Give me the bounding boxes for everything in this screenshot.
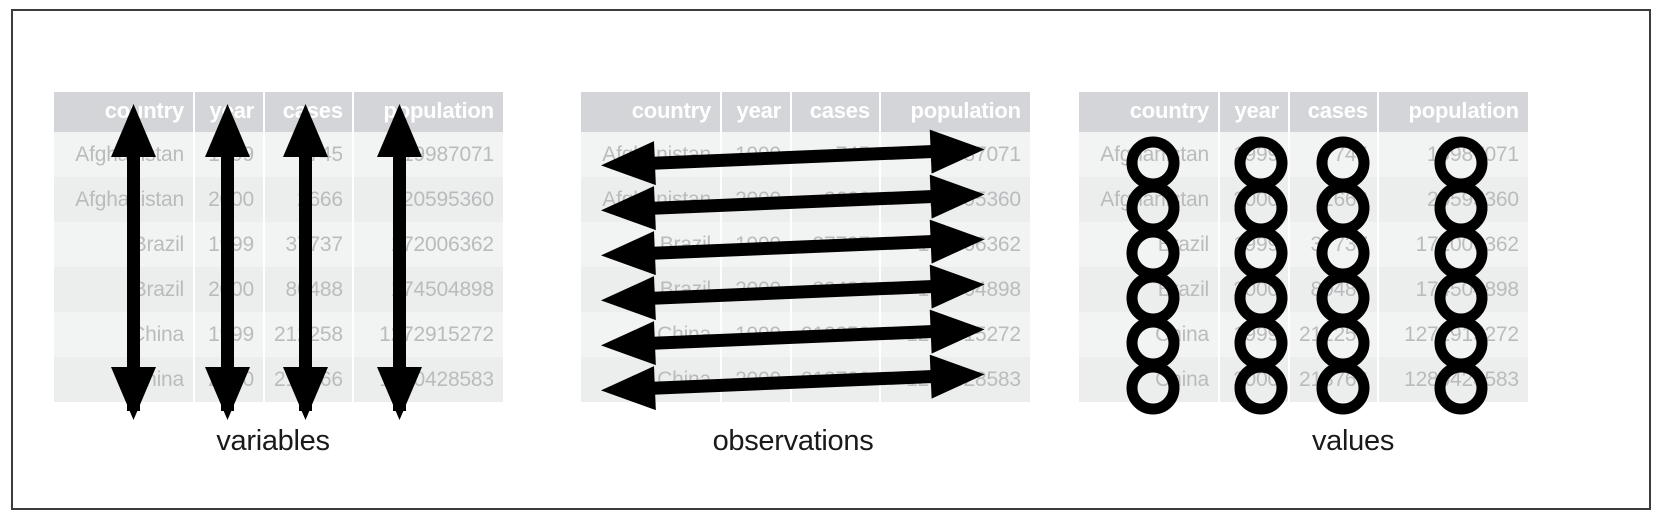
cell-population: 172006362 [1378,222,1528,267]
table-row: China 2000 213766 1280428583 [581,357,1030,402]
cell-cases: 2666 [1289,177,1378,222]
cell-year: 2000 [1219,267,1289,312]
cell-population: 1272915272 [1378,312,1528,357]
table-row: Afghanistan 1999 745 19987071 [581,132,1030,177]
column-header-population: population [1378,92,1528,132]
cell-cases: 212258 [791,312,880,357]
table-row: Afghanistan 2000 2666 20595360 [1079,177,1528,222]
cell-year: 1999 [721,222,791,267]
cell-country: China [54,357,194,402]
cell-year: 2000 [1219,357,1289,402]
cell-population: 172006362 [880,222,1030,267]
cell-year: 1999 [721,312,791,357]
panel-values: country year cases population Afghanista… [1053,11,1653,512]
table-header-row: country year cases population [1079,92,1528,132]
cell-year: 1999 [721,132,791,177]
table-row: China 2000 213766 1280428583 [1079,357,1528,402]
cell-cases: 80488 [1289,267,1378,312]
table-row: China 1999 212258 1272915272 [1079,312,1528,357]
cell-year: 2000 [721,357,791,402]
table-row: Brazil 2000 80488 174504898 [581,267,1030,312]
cell-year: 2000 [721,177,791,222]
cell-population: 1280428583 [880,357,1030,402]
figure-frame: country year cases population Afghanista… [11,9,1651,510]
cell-year: 2000 [721,267,791,312]
cell-population: 174504898 [353,267,503,312]
cell-population: 1280428583 [1378,357,1528,402]
column-header-year: year [1219,92,1289,132]
cell-year: 1999 [194,312,264,357]
table-row: Brazil 1999 37737 172006362 [54,222,503,267]
variables-table: country year cases population Afghanista… [54,92,503,402]
cell-population: 19987071 [880,132,1030,177]
cell-cases: 2666 [264,177,353,222]
column-header-cases: cases [264,92,353,132]
cell-country: Brazil [54,267,194,312]
column-header-year: year [194,92,264,132]
cell-country: China [581,312,721,357]
cell-country: Afghanistan [581,132,721,177]
column-header-population: population [880,92,1030,132]
table-row: China 1999 212258 1272915272 [581,312,1030,357]
panel-observations: country year cases population Afghanista… [533,11,1053,512]
table-row: China 2000 213766 1280428583 [54,357,503,402]
column-header-country: country [1079,92,1219,132]
observations-table: country year cases population Afghanista… [581,92,1030,402]
cell-year: 2000 [194,177,264,222]
cell-cases: 212258 [1289,312,1378,357]
cell-country: Brazil [581,222,721,267]
cell-country: China [1079,357,1219,402]
cell-cases: 37737 [264,222,353,267]
table-row: Brazil 1999 37737 172006362 [1079,222,1528,267]
column-header-cases: cases [791,92,880,132]
table-row: Brazil 2000 80488 174504898 [1079,267,1528,312]
cell-country: Brazil [1079,222,1219,267]
table-header-row: country year cases population [581,92,1030,132]
cell-population: 20595360 [1378,177,1528,222]
cell-country: Brazil [581,267,721,312]
panel-label-observations: observations [533,425,1053,458]
values-table: country year cases population Afghanista… [1079,92,1528,402]
cell-population: 20595360 [880,177,1030,222]
cell-cases: 80488 [264,267,353,312]
cell-country: Afghanistan [581,177,721,222]
table-row: China 1999 212258 1272915272 [54,312,503,357]
cell-year: 2000 [194,267,264,312]
cell-country: Afghanistan [1079,132,1219,177]
cell-population: 19987071 [1378,132,1528,177]
cell-cases: 213766 [264,357,353,402]
panel-label-values: values [1053,425,1653,458]
column-header-year: year [721,92,791,132]
cell-cases: 213766 [791,357,880,402]
cell-cases: 212258 [264,312,353,357]
observations-table-wrap: country year cases population Afghanista… [581,92,1030,402]
cell-population: 1272915272 [880,312,1030,357]
column-header-country: country [54,92,194,132]
cell-population: 172006362 [353,222,503,267]
values-table-wrap: country year cases population Afghanista… [1079,92,1528,402]
cell-country: Afghanistan [54,177,194,222]
cell-year: 1999 [1219,222,1289,267]
cell-population: 1272915272 [353,312,503,357]
panel-label-variables: variables [13,425,533,458]
cell-year: 1999 [1219,132,1289,177]
table-row: Afghanistan 2000 2666 20595360 [581,177,1030,222]
cell-country: Afghanistan [54,132,194,177]
column-header-population: population [353,92,503,132]
cell-population: 174504898 [1378,267,1528,312]
table-row: Afghanistan 1999 745 19987071 [1079,132,1528,177]
column-header-country: country [581,92,721,132]
cell-population: 20595360 [353,177,503,222]
cell-country: China [581,357,721,402]
cell-population: 19987071 [353,132,503,177]
panel-variables: country year cases population Afghanista… [13,11,533,512]
cell-year: 1999 [194,222,264,267]
cell-cases: 80488 [791,267,880,312]
cell-cases: 213766 [1289,357,1378,402]
cell-country: Brazil [1079,267,1219,312]
table-row: Brazil 2000 80488 174504898 [54,267,503,312]
cell-cases: 2666 [791,177,880,222]
variables-table-wrap: country year cases population Afghanista… [54,92,503,402]
cell-country: Afghanistan [1079,177,1219,222]
cell-cases: 745 [264,132,353,177]
cell-year: 1999 [1219,312,1289,357]
table-header-row: country year cases population [54,92,503,132]
cell-cases: 37737 [791,222,880,267]
cell-cases: 745 [1289,132,1378,177]
cell-year: 2000 [1219,177,1289,222]
cell-cases: 37737 [1289,222,1378,267]
cell-country: China [1079,312,1219,357]
cell-country: Brazil [54,222,194,267]
cell-population: 1280428583 [353,357,503,402]
table-row: Afghanistan 2000 2666 20595360 [54,177,503,222]
cell-population: 174504898 [880,267,1030,312]
cell-year: 2000 [194,357,264,402]
table-row: Afghanistan 1999 745 19987071 [54,132,503,177]
cell-year: 1999 [194,132,264,177]
cell-country: China [54,312,194,357]
column-header-cases: cases [1289,92,1378,132]
cell-cases: 745 [791,132,880,177]
table-row: Brazil 1999 37737 172006362 [581,222,1030,267]
